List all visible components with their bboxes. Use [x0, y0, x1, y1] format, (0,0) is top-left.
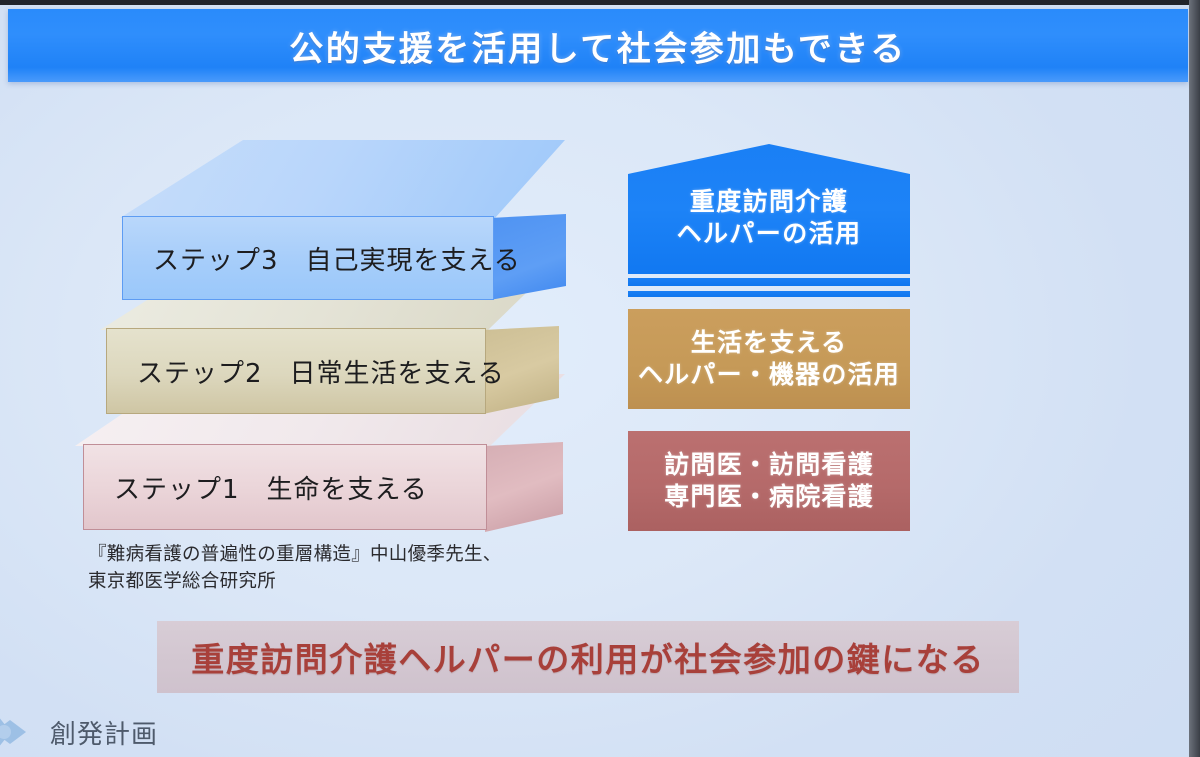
blue-stripe-upper: [628, 278, 910, 286]
panel-heavy-visit-care-line-2: ヘルパーの活用: [677, 218, 862, 250]
logo-text: 創発計画: [50, 714, 158, 751]
panel-medical-nursing-line-2: 専門医・病院看護: [664, 481, 874, 514]
citation-line-2: 東京都医学総合研究所: [88, 569, 558, 596]
panel-medical-nursing-line-1: 訪問医・訪問看護: [664, 449, 874, 482]
slide-surface: 公的支援を活用して社会参加もできる ステップ1 生命を支える ステップ2 日常生…: [0, 4, 1190, 757]
panel-daily-living-support-line-2: ヘルパー・機器の活用: [638, 359, 900, 392]
footer-logo: 創発計画: [0, 710, 158, 754]
panel-heavy-visit-care: 重度訪問介護 ヘルパーの活用: [628, 144, 910, 274]
panel-medical-nursing: 訪問医・訪問看護 専門医・病院看護: [628, 431, 910, 531]
panel-heavy-visit-care-line-1: 重度訪問介護: [690, 186, 848, 218]
conclusion-text: 重度訪問介護ヘルパーの利用が社会参加の鍵になる: [191, 633, 985, 681]
blue-stripe-lower: [628, 291, 910, 297]
burst-mark-icon: [0, 710, 42, 754]
support-panels: 重度訪問介護 ヘルパーの活用 生活を支える ヘルパー・機器の活用 訪問医・訪問看…: [0, 4, 1200, 564]
screen-bezel-top: [0, 0, 1200, 5]
screen-bezel-right: [1189, 0, 1200, 757]
panel-daily-living-support-line-1: 生活を支える: [691, 327, 847, 360]
panel-daily-living-support: 生活を支える ヘルパー・機器の活用: [628, 309, 910, 409]
slide-container: 公的支援を活用して社会参加もできる ステップ1 生命を支える ステップ2 日常生…: [0, 0, 1200, 757]
conclusion-banner: 重度訪問介護ヘルパーの利用が社会参加の鍵になる: [157, 621, 1019, 693]
